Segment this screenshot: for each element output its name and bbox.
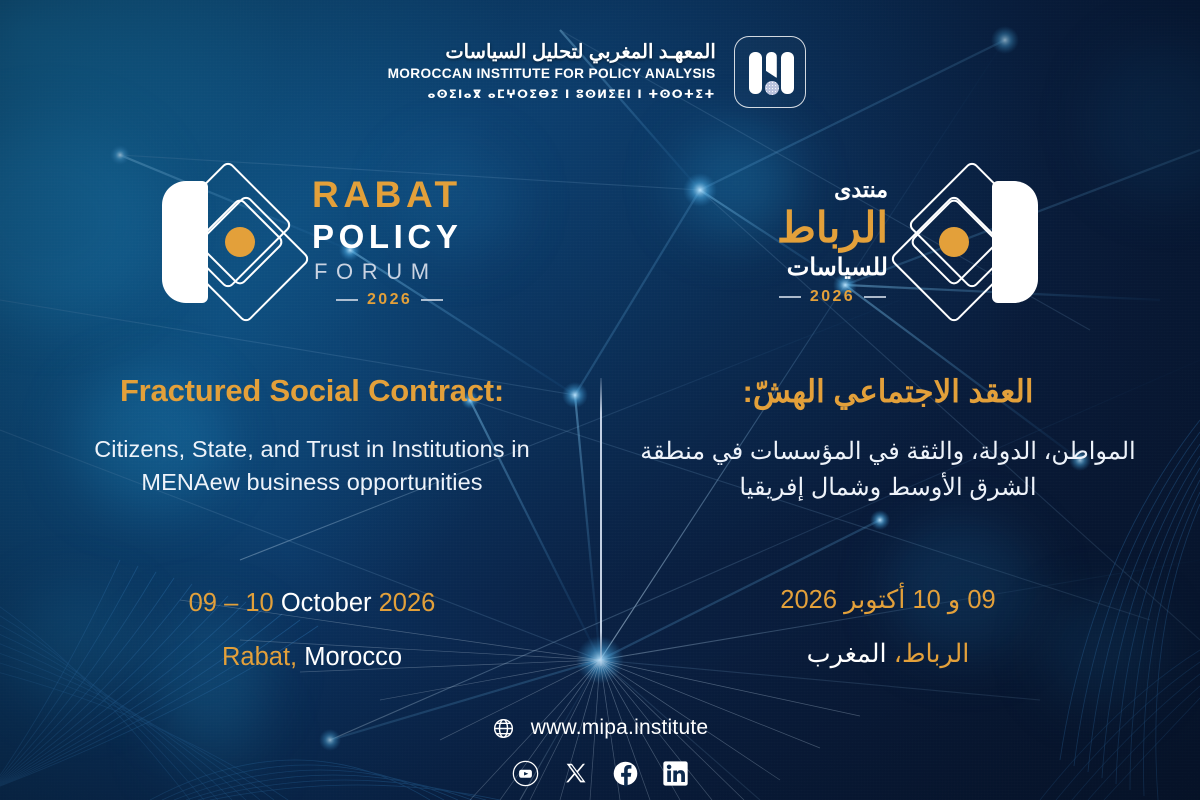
wordmark-ribat: الرباط	[777, 207, 888, 249]
website-row[interactable]: www.mipa.institute	[492, 716, 709, 740]
year-dash-left	[779, 296, 801, 298]
event-country-en: Morocco	[304, 643, 402, 671]
institute-lockup: المعهـد المغربي لتحليل السياسات MOROCCAN…	[0, 36, 1200, 108]
logo-center-dot	[225, 227, 255, 257]
event-country-ar: المغرب	[807, 640, 887, 668]
wordmark-siyasat: للسياسات	[777, 256, 888, 280]
column-divider	[600, 378, 602, 666]
forum-wordmark-ar: منتدى الرباط للسياسات 2026	[777, 179, 888, 305]
rabat-policy-forum-logo-ar: منتدى الرباط للسياسات 2026	[777, 168, 1048, 316]
theme-heading-en: Fractured Social Contract:	[62, 372, 562, 409]
event-city-ar: الرباط،	[894, 640, 970, 668]
x-twitter-icon[interactable]	[562, 760, 589, 787]
mipa-logo-mark-icon	[734, 36, 806, 108]
event-date-en: 09 – 10 October 2026	[62, 588, 562, 620]
rabat-policy-forum-logo-en: RABAT POLICY FORUM 2026	[152, 168, 462, 316]
institute-name-english: MOROCCAN INSTITUTE FOR POLICY ANALYSIS	[388, 64, 716, 84]
event-poster: المعهـد المغربي لتحليل السياسات MOROCCAN…	[0, 0, 1200, 800]
event-meta-arabic: 09 و 10 أكتوبر 2026 الرباط، المغرب	[638, 585, 1138, 671]
globe-icon	[492, 717, 515, 740]
wordmark-year-row: 2026	[312, 292, 462, 308]
theme-subheading-en: Citizens, State, and Trust in Institutio…	[62, 433, 562, 498]
event-date-days-en: 09 – 10	[189, 589, 274, 617]
facebook-icon[interactable]	[612, 760, 639, 787]
year-dash-right	[421, 299, 443, 301]
poster-footer: www.mipa.institute	[0, 716, 1200, 787]
youtube-icon[interactable]	[512, 760, 539, 787]
event-meta-english: 09 – 10 October 2026 Rabat, Morocco	[62, 588, 562, 674]
forum-wordmark-en: RABAT POLICY FORUM 2026	[312, 176, 462, 308]
institute-name-tifinagh: ⴰⵙⵉⵏⴰⴳ ⴰⵎⵖⵔⵉⴱⵉ ⵏ ⵓⵙⵍⵉⴹⵏ ⵏ ⵜⵙⵔⵜⵉⵜ	[394, 85, 716, 103]
content-column-english: Fractured Social Contract: Citizens, Sta…	[62, 372, 562, 498]
theme-heading-ar: العقد الاجتماعي الهشّ:	[638, 372, 1138, 412]
wordmark-policy: POLICY	[312, 220, 462, 253]
forum-logos-row: RABAT POLICY FORUM 2026	[0, 168, 1200, 318]
content-column-arabic: العقد الاجتماعي الهشّ: المواطن، الدولة، …	[638, 372, 1138, 505]
mipa-mark-dot	[765, 81, 779, 95]
wordmark-forum: FORUM	[312, 261, 462, 283]
event-location-en: Rabat, Morocco	[62, 642, 562, 674]
social-links-row	[0, 760, 1200, 787]
wordmark-rabat: RABAT	[312, 176, 462, 213]
wordmark-muntada: منتدى	[777, 179, 888, 201]
wordmark-year-row-ar: 2026	[777, 289, 888, 305]
forum-logo-mark-icon	[152, 168, 302, 316]
website-url[interactable]: www.mipa.institute	[531, 716, 709, 740]
event-date-year-en: 2026	[379, 589, 436, 617]
institute-name-arabic: المعهـد المغربي لتحليل السياسات	[394, 41, 716, 63]
wordmark-year-ar: 2026	[810, 289, 855, 305]
logo-center-dot	[939, 227, 969, 257]
theme-subheading-ar: المواطن، الدولة، والثقة في المؤسسات في م…	[638, 434, 1138, 505]
wordmark-year: 2026	[367, 292, 412, 308]
mipa-mark-stroke	[766, 52, 777, 78]
event-location-ar: الرباط، المغرب	[638, 639, 1138, 671]
forum-logo-mark-icon	[898, 168, 1048, 316]
event-date-month-en: October	[281, 589, 372, 617]
mipa-mark-stroke	[781, 52, 794, 94]
event-city-en: Rabat,	[222, 643, 297, 671]
linkedin-icon[interactable]	[662, 760, 689, 787]
year-dash-left	[336, 299, 358, 301]
institute-text-block: المعهـد المغربي لتحليل السياسات MOROCCAN…	[394, 41, 716, 104]
mipa-mark-stroke	[749, 52, 762, 94]
year-dash-right	[864, 296, 886, 298]
event-date-ar: 09 و 10 أكتوبر 2026	[638, 585, 1138, 617]
